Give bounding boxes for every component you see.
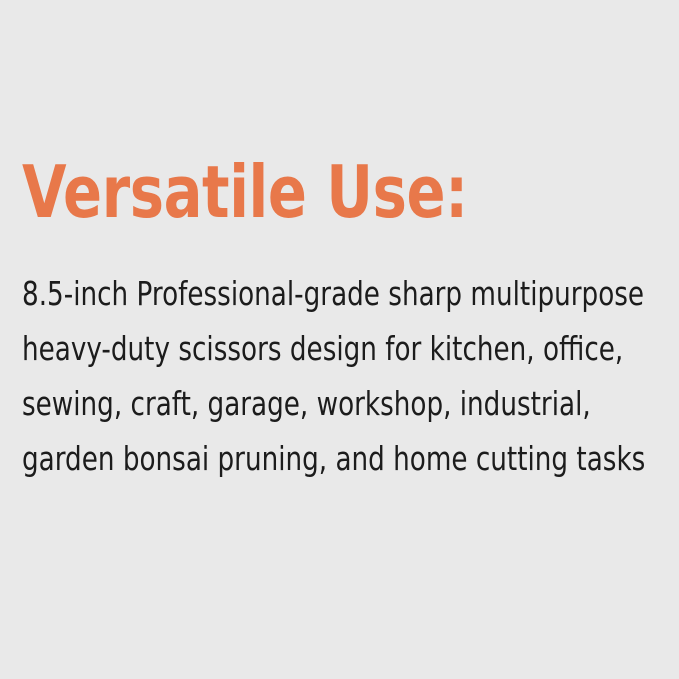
- feature-description: 8.5-inch Professional-grade sharp multip…: [22, 266, 677, 486]
- description-line: heavy-duty scissors design for kitchen, …: [22, 321, 543, 376]
- description-line: sewing, craft, garage, workshop, industr…: [22, 376, 543, 431]
- feature-content: Versatile Use: 8.5-inch Professional-gra…: [22, 152, 677, 486]
- description-line: 8.5-inch Professional-grade sharp multip…: [22, 266, 543, 321]
- description-line: garden bonsai pruning, and home cutting …: [22, 431, 543, 486]
- page-title: Versatile Use:: [22, 152, 546, 232]
- product-feature-card: Versatile Use: 8.5-inch Professional-gra…: [0, 0, 679, 679]
